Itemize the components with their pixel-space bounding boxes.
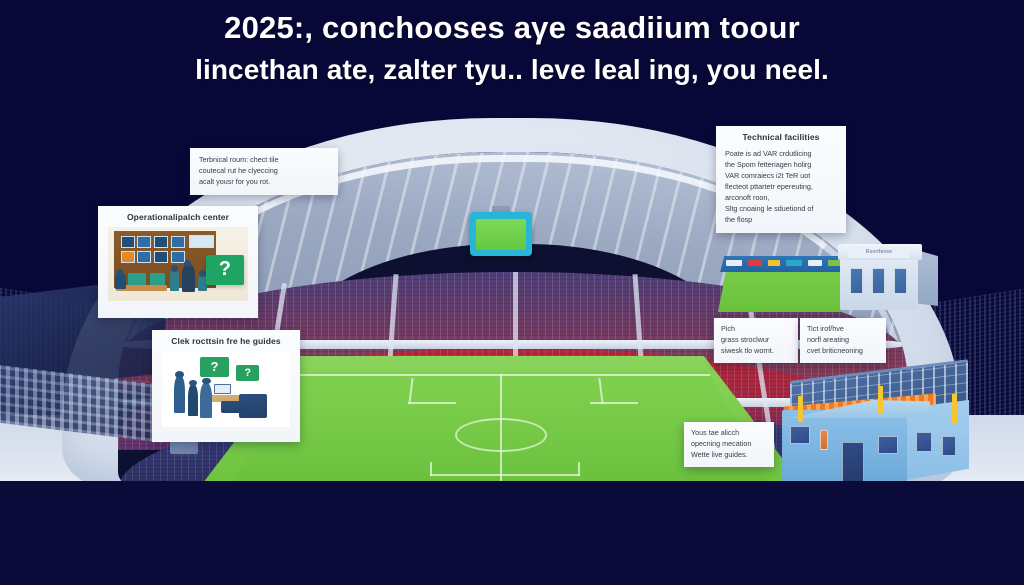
ops-wall-screen — [121, 251, 135, 263]
ops-supervisor — [182, 264, 195, 292]
pitch-box-near-b — [430, 462, 432, 476]
callout-opening-mechanism-body: Yous tae alicch opecning mecation Wette … — [684, 422, 774, 467]
title-line-2: lincethan ate, zalter tyu.. leve leal in… — [0, 52, 1024, 88]
ops-monitor — [128, 273, 146, 286]
callout-pitch[interactable]: Pich grass stroclwur siwesk tlo wornt. — [714, 318, 798, 363]
guides-person-b-head — [189, 380, 197, 386]
callout-technical-facilities-title: Technical facilities — [716, 126, 846, 145]
building-window-warm — [820, 430, 828, 450]
guides-person-c — [200, 383, 212, 418]
callout-operational-center-title: Operationalipalch center — [98, 206, 258, 225]
building-window — [878, 436, 898, 454]
question-mark-glyph: ? — [244, 367, 251, 379]
technical-building — [782, 392, 972, 487]
guides-question-panel-large: ? — [200, 357, 228, 377]
kiosk-sign-label: Rsortfeose — [848, 247, 910, 258]
callout-technical-room[interactable]: Terbnical roum: chect tile coutecal rut … — [190, 148, 338, 195]
operations-dispatch-center-illustration: ? — [108, 227, 248, 301]
callout-operational-center[interactable]: Operationalipalch center — [98, 206, 258, 318]
mini-ad — [726, 260, 742, 266]
guides-person-a-head — [175, 371, 184, 378]
mini-ad — [786, 260, 802, 266]
stadium-tour-infographic: Rsortfeose Terbnical roum: chect tile co… — [0, 0, 1024, 585]
ops-analyst-head — [199, 270, 206, 277]
kiosk-window — [894, 268, 907, 294]
ops-wall-screen — [171, 236, 185, 248]
staff-guides-illustration: ? ? — [162, 351, 290, 427]
callout-roof[interactable]: Tict irof/hve norfl areating cvet britic… — [800, 318, 886, 363]
building-window — [916, 432, 932, 452]
guides-person-c-head — [202, 378, 211, 385]
ops-scene: ? — [108, 227, 248, 301]
truss-column — [798, 396, 803, 422]
pitch-box-right-b — [590, 402, 638, 404]
pitch-box-near-a — [430, 474, 580, 476]
building-window — [790, 426, 810, 444]
scoreboard-screen — [476, 219, 526, 250]
kiosk-window — [872, 268, 885, 294]
ops-wall-screen — [171, 251, 185, 263]
guides-monitor — [214, 384, 231, 394]
question-mark-glyph: ? — [210, 359, 218, 374]
bottom-dark-band — [0, 481, 1024, 585]
ops-wall-screen — [137, 251, 151, 263]
callout-opening-mechanism[interactable]: Yous tae alicch opecning mecation Wette … — [684, 422, 774, 467]
mini-ad — [768, 260, 780, 266]
ops-monitor — [150, 273, 165, 286]
truss-column — [952, 394, 957, 424]
building-window — [942, 436, 956, 456]
ops-staff-head — [171, 265, 178, 272]
guides-person-a — [174, 375, 186, 413]
mini-ad — [808, 260, 822, 266]
building-door — [842, 442, 864, 482]
ops-question-panel: ? — [206, 255, 244, 285]
ops-wall-screen — [137, 236, 151, 248]
ops-wall-screen — [121, 236, 135, 248]
mini-pitch-diagram — [714, 252, 856, 314]
truss-column — [878, 386, 883, 414]
callout-technical-facilities-body: Poate is ad VAR crdutlicing the Spom fet… — [716, 145, 846, 233]
ops-wall-screen — [154, 251, 168, 263]
callout-guides-title: Clek rocttsin fre he guides — [152, 330, 300, 349]
pitch-box-left-b — [408, 402, 456, 404]
question-mark-glyph: ? — [219, 258, 231, 281]
guides-person-b — [188, 384, 198, 416]
guides-printer-tray — [221, 401, 249, 413]
callout-technical-facilities[interactable]: Technical facilities Poate is ad VAR crd… — [716, 126, 846, 233]
guides-scene: ? ? — [162, 351, 290, 427]
ops-wall-screen — [154, 236, 168, 248]
callout-pitch-body: Pich grass stroclwur siwesk tlo wornt. — [714, 318, 798, 363]
mini-ad — [748, 260, 762, 266]
ops-staff — [170, 268, 180, 290]
page-title: 2025:, conchooses aγe saadiium toour lin… — [0, 8, 1024, 88]
stadium-kiosk-building: Rsortfeose — [840, 238, 940, 312]
title-line-1: 2025:, conchooses aγe saadiium toour — [0, 8, 1024, 48]
scoreboard — [470, 212, 532, 256]
pitch-center-circle — [455, 418, 547, 452]
pitch-box-near-c — [578, 462, 580, 476]
callout-guides[interactable]: Clek rocttsin fre he guides ? ? — [152, 330, 300, 442]
ops-wall-screen — [189, 235, 214, 248]
kiosk-window — [850, 268, 863, 294]
callout-technical-room-body: Terbnical roum: chect tile coutecal rut … — [190, 148, 338, 195]
ops-supervisor-head — [184, 260, 191, 267]
mini-pitch-advertising-boards — [716, 256, 854, 272]
guides-question-panel-small: ? — [236, 365, 259, 382]
callout-roof-body: Tict irof/hve norfl areating cvet britic… — [800, 318, 886, 363]
